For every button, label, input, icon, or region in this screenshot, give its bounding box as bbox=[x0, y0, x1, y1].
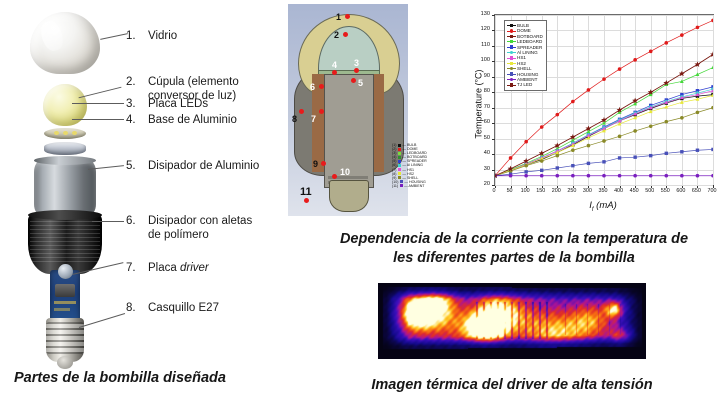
pcb-capacitor bbox=[58, 264, 73, 279]
chart-data-point bbox=[555, 113, 559, 117]
part-number-7: 7. bbox=[126, 262, 136, 274]
figure-root: 1. Vidrio 2. Cúpula (elemento conversor … bbox=[0, 0, 726, 408]
probe-number-7: 7 bbox=[311, 114, 316, 124]
part-label-6: Disipador con aletas de polímero bbox=[148, 215, 252, 242]
chart-x-tick-label: 700 bbox=[708, 188, 717, 194]
chart-y-tick-label: 130 bbox=[468, 11, 490, 17]
chart-data-point bbox=[571, 164, 574, 167]
chart-y-tick-label: 90 bbox=[468, 73, 490, 79]
chart-data-point bbox=[540, 169, 543, 172]
chart-data-point bbox=[711, 65, 713, 69]
chart-data-point bbox=[540, 125, 544, 129]
chart-data-point bbox=[587, 144, 591, 148]
chart-data-point bbox=[633, 58, 637, 62]
part-label-3: Placa LEDs bbox=[148, 98, 208, 112]
chart-data-point bbox=[618, 174, 622, 178]
chart-data-point bbox=[711, 174, 713, 178]
glass-dome-part bbox=[30, 12, 100, 74]
chart-y-tick-label: 50 bbox=[468, 135, 490, 141]
chart-x-tick-label: 250 bbox=[567, 188, 576, 194]
part-label-4: Base de Aluminio bbox=[148, 114, 237, 128]
probe-dot-2 bbox=[343, 32, 348, 37]
probe-dot-5 bbox=[351, 78, 356, 83]
part-label-7-emphasis: driver bbox=[180, 262, 209, 274]
temperature-current-chart: Temperature (°C) If (mA) BULBDOMEBOTBOAR… bbox=[462, 4, 724, 216]
section-e27-base bbox=[329, 180, 369, 212]
chart-data-point bbox=[524, 140, 528, 144]
chart-x-tick-label: 450 bbox=[630, 188, 639, 194]
part-number-6: 6. bbox=[126, 215, 136, 227]
chart-data-point bbox=[711, 148, 713, 151]
part-number-8: 8. bbox=[126, 302, 136, 314]
chart-legend-swatch bbox=[507, 68, 516, 69]
leader-line-6 bbox=[92, 221, 124, 222]
chart-x-tick-label: 200 bbox=[552, 188, 561, 194]
chart-data-point bbox=[695, 61, 701, 66]
chart-data-point bbox=[618, 135, 622, 139]
probe-number-10: 10 bbox=[340, 167, 350, 177]
probe-dot-9 bbox=[321, 161, 326, 166]
chart-x-tick-label: 600 bbox=[676, 188, 685, 194]
chart-legend-swatch bbox=[507, 47, 516, 48]
thermal-caption: Imagen térmica del driver de alta tensió… bbox=[366, 377, 658, 393]
probe-number-1: 1 bbox=[336, 12, 341, 22]
chart-legend-swatch bbox=[507, 31, 516, 32]
heatsink-fins bbox=[30, 221, 100, 265]
leader-line-4 bbox=[72, 119, 124, 120]
chart-data-point bbox=[680, 150, 683, 153]
chart-gridline-h bbox=[495, 185, 713, 186]
chart-data-point bbox=[602, 160, 605, 163]
part-number-1: 1. bbox=[126, 30, 136, 42]
chart-data-point bbox=[665, 152, 668, 155]
probe-number-6: 6 bbox=[310, 82, 315, 92]
exploded-caption: Partes de la bombilla diseñada bbox=[14, 370, 226, 386]
chart-legend-swatch bbox=[507, 74, 516, 75]
probe-dot-8 bbox=[299, 109, 304, 114]
probe-dot-11 bbox=[304, 198, 309, 203]
thermal-image bbox=[378, 283, 646, 359]
chart-data-point bbox=[556, 166, 559, 169]
chart-y-tick-label: 100 bbox=[468, 57, 490, 63]
chart-data-point bbox=[555, 154, 559, 158]
chart-x-tick-label: 0 bbox=[493, 188, 496, 194]
chart-data-point bbox=[696, 26, 700, 30]
chart-data-point bbox=[602, 77, 606, 81]
chart-legend-swatch bbox=[507, 63, 516, 64]
chart-data-point bbox=[524, 170, 527, 173]
chart-data-point bbox=[509, 174, 513, 178]
chart-y-tick-label: 20 bbox=[468, 181, 490, 187]
section-legend-item: (6) — Al LINING bbox=[392, 163, 427, 167]
chart-data-point bbox=[680, 116, 684, 120]
chart-data-point bbox=[540, 159, 544, 163]
chart-data-point bbox=[633, 174, 637, 178]
cross-section-panel: 1 2 3 4 5 6 7 8 9 10 11 bbox=[288, 4, 408, 216]
chart-data-point bbox=[540, 174, 544, 178]
led-board-part bbox=[44, 128, 86, 139]
chart-data-point bbox=[649, 154, 652, 157]
probe-number-3: 3 bbox=[354, 58, 359, 68]
chart-y-tick-label: 80 bbox=[468, 88, 490, 94]
chart-data-point bbox=[649, 50, 653, 54]
chart-data-point bbox=[555, 174, 559, 178]
thermal-image-panel bbox=[378, 283, 646, 359]
chart-y-tick-label: 110 bbox=[468, 42, 490, 48]
probe-number-2: 2 bbox=[334, 30, 339, 40]
chart-y-tick-label: 30 bbox=[468, 166, 490, 172]
chart-x-axis-label: If (mA) bbox=[589, 200, 617, 213]
chart-data-point bbox=[679, 71, 685, 76]
chart-data-point bbox=[633, 155, 636, 158]
chart-x-tick-label: 350 bbox=[599, 188, 608, 194]
chart-data-point bbox=[618, 156, 621, 159]
chart-data-point bbox=[680, 33, 684, 37]
part-number-2: 2. bbox=[126, 76, 136, 88]
leader-line-3 bbox=[72, 103, 124, 104]
cross-section-drawing bbox=[288, 4, 408, 216]
pcb-chip bbox=[55, 284, 75, 297]
chart-data-point bbox=[664, 174, 668, 178]
part-number-4: 4. bbox=[126, 114, 136, 126]
probe-dot-4 bbox=[332, 70, 337, 75]
probe-dot-3 bbox=[354, 68, 359, 73]
probe-dot-10 bbox=[332, 174, 337, 179]
part-number-5: 5. bbox=[126, 160, 136, 172]
chart-y-tickmark bbox=[492, 185, 495, 186]
probe-dot-7 bbox=[319, 109, 324, 114]
probe-dot-6 bbox=[319, 84, 324, 89]
chart-data-point bbox=[696, 149, 699, 152]
chart-legend-swatch bbox=[507, 25, 516, 26]
chart-data-point bbox=[711, 19, 713, 23]
chart-legend-swatch bbox=[507, 85, 516, 86]
chart-legend-swatch bbox=[507, 52, 516, 53]
part-label-8: Casquillo E27 bbox=[148, 302, 219, 316]
chart-data-point bbox=[602, 139, 606, 143]
chart-data-point bbox=[696, 111, 700, 115]
probe-number-4: 4 bbox=[332, 60, 337, 70]
chart-legend-swatch bbox=[507, 58, 516, 59]
chart-data-point bbox=[587, 162, 590, 165]
e27-cap-part bbox=[46, 318, 84, 362]
chart-data-point bbox=[711, 106, 713, 110]
chart-data-point bbox=[664, 41, 668, 45]
part-number-3: 3. bbox=[126, 98, 136, 110]
chart-data-point bbox=[649, 124, 653, 128]
chart-legend: BULBDOMEBOTBOARDLEDBOARDSPREADERAl LININ… bbox=[504, 20, 547, 91]
chart-data-point bbox=[587, 174, 591, 178]
section-legend-item: (11) — AMBIENT bbox=[392, 184, 427, 188]
chart-x-tick-label: 100 bbox=[521, 188, 530, 194]
bulb-exploded-stack bbox=[18, 8, 113, 348]
pcb-trace bbox=[54, 308, 70, 311]
chart-data-point bbox=[664, 120, 668, 124]
probe-dot-1 bbox=[345, 14, 350, 19]
chart-y-tick-label: 60 bbox=[468, 119, 490, 125]
chart-x-tick-label: 300 bbox=[583, 188, 592, 194]
chart-data-point bbox=[571, 174, 575, 178]
chart-legend-item: TJ LED bbox=[507, 82, 543, 87]
chart-data-point bbox=[571, 100, 575, 104]
section-legend: (1) — BULB(2) — DOME(3) — LEDBOARD(4) — … bbox=[392, 143, 427, 188]
probe-number-11: 11 bbox=[300, 186, 312, 198]
probe-number-8: 8 bbox=[292, 114, 297, 124]
chart-data-point bbox=[587, 88, 591, 92]
chart-data-point bbox=[618, 67, 622, 71]
chart-data-point bbox=[602, 174, 606, 178]
chart-y-tick-label: 70 bbox=[468, 104, 490, 110]
chart-legend-swatch bbox=[507, 79, 516, 80]
chart-data-point bbox=[649, 174, 653, 178]
chart-caption: Dependencia de la corriente con la tempe… bbox=[312, 230, 716, 268]
chart-data-point bbox=[680, 174, 684, 178]
chart-x-tick-label: 500 bbox=[645, 188, 654, 194]
chart-y-tick-label: 40 bbox=[468, 150, 490, 156]
e27-contact-tip bbox=[57, 356, 73, 369]
exploded-bulb-panel: 1. Vidrio 2. Cúpula (elemento conversor … bbox=[0, 0, 285, 360]
chart-data-point bbox=[524, 164, 528, 168]
chart-legend-swatch bbox=[507, 41, 516, 42]
chart-legend-label: TJ LED bbox=[517, 82, 532, 87]
chart-x-tick-label: 50 bbox=[507, 188, 513, 194]
chart-data-point bbox=[524, 174, 528, 178]
chart-x-tick-label: 400 bbox=[614, 188, 623, 194]
aluminium-base-part bbox=[44, 142, 86, 155]
chart-gridline-v bbox=[713, 15, 714, 185]
chart-data-point bbox=[696, 174, 700, 178]
chart-x-tick-label: 650 bbox=[692, 188, 701, 194]
chart-y-tick-label: 120 bbox=[468, 26, 490, 32]
chart-x-tick-label: 550 bbox=[661, 188, 670, 194]
aluminium-heatsink-part bbox=[34, 160, 96, 216]
chart-data-point bbox=[633, 129, 637, 133]
chart-data-point bbox=[509, 156, 513, 160]
pcb-trace bbox=[54, 301, 76, 304]
chart-legend-swatch bbox=[507, 36, 516, 37]
part-label-1: Vidrio bbox=[148, 30, 177, 44]
probe-number-5: 5 bbox=[358, 78, 363, 88]
part-label-7: Placa driver bbox=[148, 262, 209, 276]
chart-data-point bbox=[571, 148, 575, 152]
chart-x-tick-label: 150 bbox=[536, 188, 545, 194]
part-label-5: Disipador de Aluminio bbox=[148, 160, 259, 174]
probe-number-9: 9 bbox=[313, 159, 318, 169]
